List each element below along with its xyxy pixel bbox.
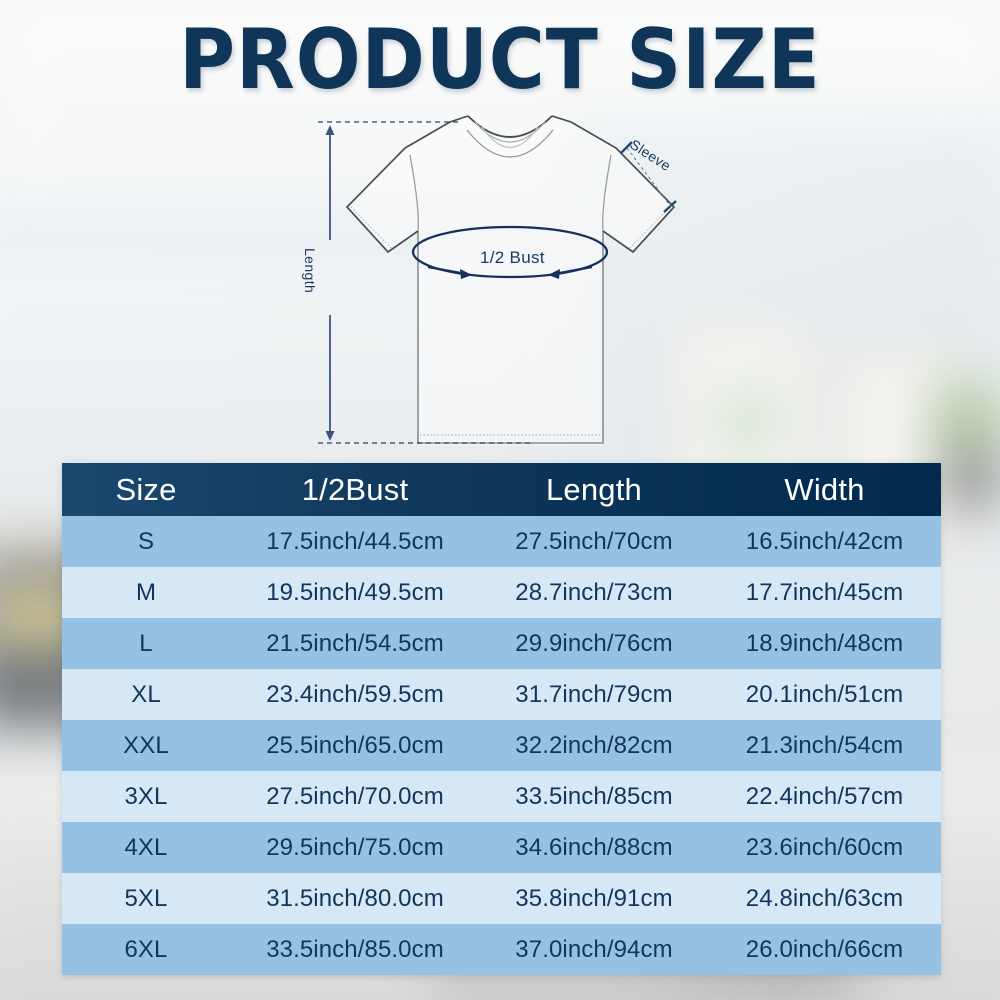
table-header-row: Size 1/2Bust Length Width xyxy=(62,463,941,516)
width-cell: 16.5inch/42cm xyxy=(708,516,941,567)
t-shirt-illustration xyxy=(347,116,674,445)
length-cell: 27.5inch/70cm xyxy=(480,516,708,567)
column-header-size: Size xyxy=(62,463,230,516)
bust-cell: 27.5inch/70.0cm xyxy=(230,771,480,822)
table-row: XL23.4inch/59.5cm31.7inch/79cm20.1inch/5… xyxy=(62,669,941,720)
size-cell: 4XL xyxy=(62,822,230,873)
t-shirt-measurement-diagram: Length Sleeve 1/2 Bust xyxy=(300,100,720,465)
table-row: 4XL29.5inch/75.0cm34.6inch/88cm23.6inch/… xyxy=(62,822,941,873)
width-cell: 20.1inch/51cm xyxy=(708,669,941,720)
half-bust-label: 1/2 Bust xyxy=(480,248,545,268)
column-header-bust: 1/2Bust xyxy=(230,463,480,516)
width-cell: 21.3inch/54cm xyxy=(708,720,941,771)
size-chart-table: Size 1/2Bust Length Width S17.5inch/44.5… xyxy=(62,463,941,975)
background-plant-pot xyxy=(940,455,1000,510)
length-cell: 34.6inch/88cm xyxy=(480,822,708,873)
length-cell: 28.7inch/73cm xyxy=(480,567,708,618)
bust-cell: 33.5inch/85.0cm xyxy=(230,924,480,975)
width-cell: 24.8inch/63cm xyxy=(708,873,941,924)
width-cell: 17.7inch/45cm xyxy=(708,567,941,618)
column-header-length: Length xyxy=(480,463,708,516)
table-row: XXL25.5inch/65.0cm32.2inch/82cm21.3inch/… xyxy=(62,720,941,771)
product-size-chart-page: PRODUCT SIZE xyxy=(0,0,1000,1000)
size-cell: L xyxy=(62,618,230,669)
length-cell: 32.2inch/82cm xyxy=(480,720,708,771)
length-cell: 31.7inch/79cm xyxy=(480,669,708,720)
bust-cell: 23.4inch/59.5cm xyxy=(230,669,480,720)
length-label: Length xyxy=(302,248,318,293)
table-row: M19.5inch/49.5cm28.7inch/73cm17.7inch/45… xyxy=(62,567,941,618)
table-row: 5XL31.5inch/80.0cm35.8inch/91cm24.8inch/… xyxy=(62,873,941,924)
length-cell: 29.9inch/76cm xyxy=(480,618,708,669)
table-row: S17.5inch/44.5cm27.5inch/70cm16.5inch/42… xyxy=(62,516,941,567)
size-cell: 6XL xyxy=(62,924,230,975)
table-row: 6XL33.5inch/85.0cm37.0inch/94cm26.0inch/… xyxy=(62,924,941,975)
length-cell: 37.0inch/94cm xyxy=(480,924,708,975)
length-cell: 35.8inch/91cm xyxy=(480,873,708,924)
width-cell: 22.4inch/57cm xyxy=(708,771,941,822)
column-header-width: Width xyxy=(708,463,941,516)
width-cell: 23.6inch/60cm xyxy=(708,822,941,873)
bust-cell: 17.5inch/44.5cm xyxy=(230,516,480,567)
bust-cell: 21.5inch/54.5cm xyxy=(230,618,480,669)
table-header: Size 1/2Bust Length Width xyxy=(62,463,941,516)
page-title: PRODUCT SIZE xyxy=(40,14,960,106)
table-row: 3XL27.5inch/70.0cm33.5inch/85cm22.4inch/… xyxy=(62,771,941,822)
bust-cell: 25.5inch/65.0cm xyxy=(230,720,480,771)
bust-cell: 19.5inch/49.5cm xyxy=(230,567,480,618)
size-cell: 3XL xyxy=(62,771,230,822)
bust-cell: 29.5inch/75.0cm xyxy=(230,822,480,873)
table-row: L21.5inch/54.5cm29.9inch/76cm18.9inch/48… xyxy=(62,618,941,669)
table-body: S17.5inch/44.5cm27.5inch/70cm16.5inch/42… xyxy=(62,516,941,975)
size-chart-table-container: Size 1/2Bust Length Width S17.5inch/44.5… xyxy=(62,463,941,975)
size-cell: 5XL xyxy=(62,873,230,924)
size-cell: S xyxy=(62,516,230,567)
width-cell: 18.9inch/48cm xyxy=(708,618,941,669)
width-cell: 26.0inch/66cm xyxy=(708,924,941,975)
bust-cell: 31.5inch/80.0cm xyxy=(230,873,480,924)
size-cell: M xyxy=(62,567,230,618)
length-cell: 33.5inch/85cm xyxy=(480,771,708,822)
size-cell: XL xyxy=(62,669,230,720)
size-cell: XXL xyxy=(62,720,230,771)
